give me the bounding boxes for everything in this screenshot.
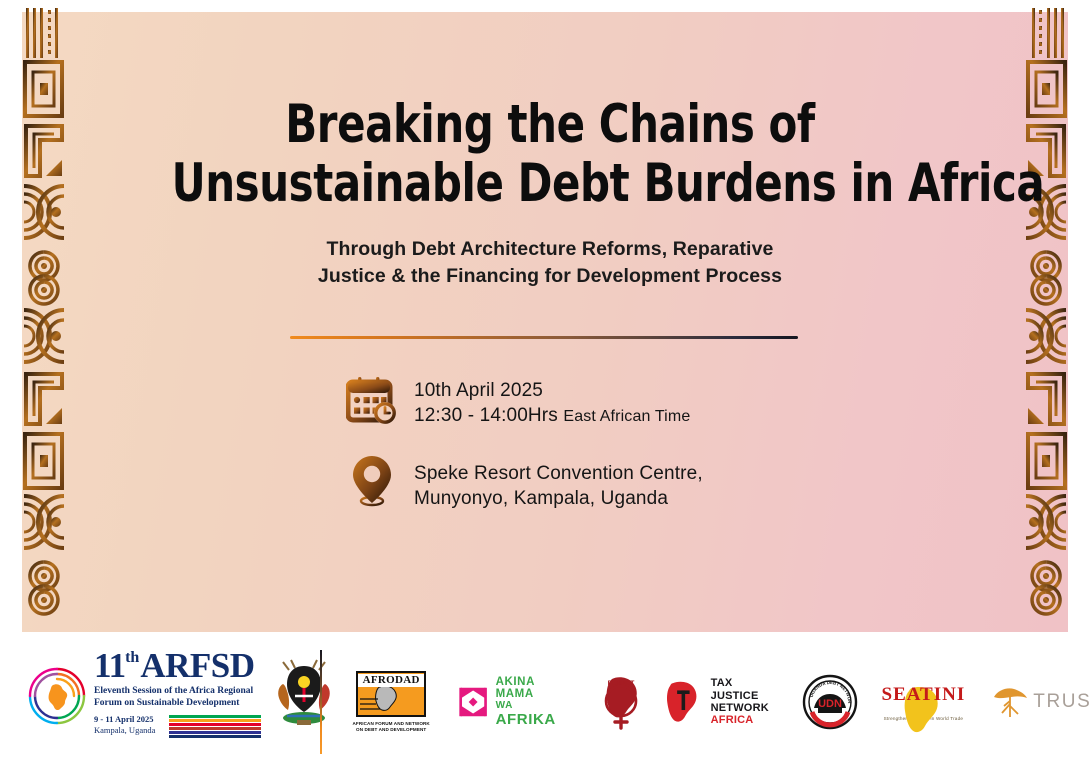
seatini-wordmark: SEATINI — [882, 684, 966, 706]
arfsd-city: Kampala, Uganda — [94, 725, 155, 736]
subtitle-line-1: Through Debt Architecture Reforms, Repar… — [120, 236, 980, 264]
arfsd-logo-group: 11 th ARFSD Eleventh Session of the Afri… — [26, 648, 335, 744]
partner-logo-tax-justice-network-africa: TAX JUSTICE NETWORK AFRICA — [662, 677, 776, 727]
event-details: 10th April 2025 12:30 - 14:00Hrs East Af… — [330, 376, 950, 538]
venue-row: Speke Resort Convention Centre, Munyonyo… — [330, 454, 950, 511]
akina-mama-wa: WA — [496, 700, 513, 711]
udn-wordmark: UDN — [818, 698, 842, 710]
event-poster: Breaking the Chains of Unsustainable Deb… — [0, 0, 1090, 768]
event-time: 12:30 - 14:00Hrs — [414, 405, 558, 426]
arfsd-acronym: ARFSD — [140, 648, 254, 683]
event-timezone: East African Time — [563, 408, 690, 425]
partner-logo-trustafrica: TRUSTAFRICA — [991, 686, 1090, 718]
title-line-2: Unsustainable Debt Burdens in Africa — [172, 154, 929, 213]
calendar-clock-icon — [330, 376, 414, 426]
partner-logos: AFRODAD AFRICAN FORUM AND NETWORK ON DEB… — [350, 648, 1090, 756]
tjna-line-1: TAX JUSTICE — [711, 677, 776, 702]
african-motif-border-left — [22, 0, 66, 620]
akina-mama-line-1: AKINA MAMA — [496, 677, 568, 700]
femnet-wordmark: FEMNET — [608, 680, 635, 687]
african-motif-border-right — [1024, 0, 1068, 620]
title-line-1: Breaking the Chains of — [172, 95, 929, 154]
venue-line-1: Speke Resort Convention Centre, — [414, 462, 703, 487]
arfsd-ordinal-number: 11 — [94, 648, 125, 683]
arfsd-ordinal-suffix: th — [125, 650, 139, 666]
logo-separator — [320, 650, 322, 754]
afrodad-wordmark: AFRODAD — [358, 674, 424, 687]
akina-mama-mark — [458, 683, 488, 721]
trustafrica-word-light: TRUST — [1033, 691, 1090, 712]
event-date: 10th April 2025 — [414, 380, 543, 401]
acacia-tree-icon — [991, 686, 1029, 718]
partner-logo-afrodad: AFRODAD AFRICAN FORUM AND NETWORK ON DEB… — [350, 671, 432, 733]
partner-logo-femnet: FEMNET — [598, 673, 644, 731]
afrodad-caption-line-2: ON DEBT AND DEVELOPMENT — [353, 727, 430, 733]
arfsd-subtitle-line-1: Eleventh Session of the Africa Regional — [94, 686, 261, 698]
venue-line-2: Munyonyo, Kampala, Uganda — [414, 487, 703, 512]
tjna-africa-mark — [662, 677, 705, 727]
tjna-line-3: AFRICA — [711, 714, 776, 726]
uganda-coat-of-arms — [273, 658, 335, 735]
arfsd-dates: 9 - 11 April 2025 — [94, 714, 155, 725]
arfsd-subtitle-line-2: Forum on Sustainable Development — [94, 698, 261, 710]
akina-mama-line-2: AFRIKA — [496, 711, 556, 728]
partner-logo-seatini: SEATINI Strengthening Africa in World Tr… — [882, 684, 966, 721]
section-divider — [290, 336, 798, 339]
partner-logo-akina-mama-wa-afrika: AKINA MAMA WA AFRIKA — [458, 677, 568, 727]
subtitle-line-2: Justice & the Financing for Development … — [120, 263, 980, 291]
date-time-row: 10th April 2025 12:30 - 14:00Hrs East Af… — [330, 376, 950, 428]
map-pin-icon — [330, 454, 414, 508]
partner-logo-uganda-debt-network: UDN UGANDA DEBT NETWORK — [802, 674, 858, 730]
poster-headline: Breaking the Chains of Unsustainable Deb… — [120, 95, 980, 291]
arfsd-flag-bars — [169, 715, 261, 744]
logo-bar: 11 th ARFSD Eleventh Session of the Afri… — [0, 636, 1090, 768]
arfsd-swirl-logo — [26, 665, 88, 727]
tjna-line-2: NETWORK — [711, 702, 776, 714]
